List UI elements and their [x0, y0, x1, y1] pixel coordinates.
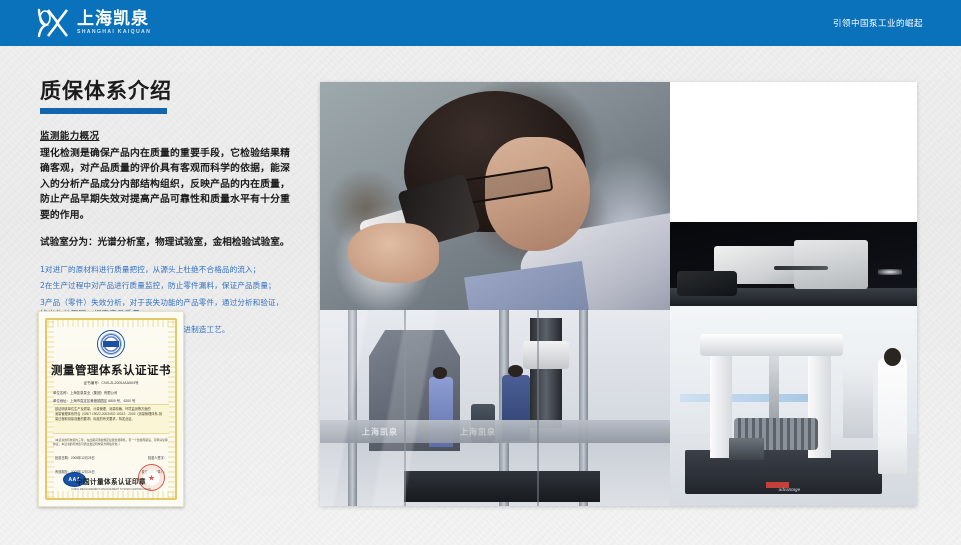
certificate-company: 单位名称：上海凯泉泵业（集团）有限公司 — [53, 390, 169, 395]
left-column: 质保体系介绍 监测能力概况 理化检测是确保产品内在质量的重要手段，它检验结果精确… — [0, 46, 320, 545]
intro-paragraph: 理化检测是确保产品内在质量的重要手段，它检验结果精确客观，对产品质量的评价具有客… — [40, 146, 290, 223]
header-bar: 上海凯泉 SHANGHAI KAIQUAN 引领中国泵工业的崛起 — [0, 0, 961, 46]
certificate-signature-row: 批准日期：2005年12月25日 批准人签字： — [55, 455, 167, 460]
photo-microscope-equipment — [670, 222, 917, 306]
logo-text-cn: 上海凯泉 — [77, 11, 151, 28]
certificate-note: （本证书的有效期为三年，在此期间须按规定接受监督审核，有一个监督周期后，可申请复… — [53, 438, 169, 446]
page-title-group: 质保体系介绍 — [40, 80, 280, 114]
certificate-footer-cn: 中国计量体系认证印章 — [39, 476, 183, 486]
company-logo[interactable]: 上海凯泉 SHANGHAI KAIQUAN — [36, 7, 151, 39]
logo-text-en: SHANGHAI KAIQUAN — [77, 30, 151, 35]
certificate-emblem-icon — [97, 330, 125, 358]
list-item: 2在生产过程中对产品进行质量监控，防止零件漏料，保证产品质量； — [40, 280, 290, 291]
section-subheading: 监测能力概况 — [40, 128, 290, 142]
photo-microscope-operator — [320, 82, 670, 310]
certificate-statement-line: 量过程和测量设备的要求）标准的有关要求，特发此证。 — [55, 417, 167, 422]
title-underline — [40, 108, 167, 114]
photo-caption: 金相显微镜检测 — [324, 300, 359, 307]
photo-cell-cmm-overlay: advantage 三坐标测量机 — [670, 306, 917, 506]
certificate-number: 证书编号：CNS-ZL2005JAA504号 — [39, 381, 183, 386]
page-title: 质保体系介绍 — [40, 80, 280, 103]
photo-cell-microscope-equipment-overlay — [670, 222, 917, 306]
photo-cell-microscope-operator: 金相显微镜检测 — [320, 82, 670, 310]
labs-line: 试验室分为：光谱分析室，物理试验室，金相检验试验室。 — [40, 236, 290, 250]
photo-cell-microscope-equipment: 上海凯泉 上海凯泉 材料试验机 — [320, 310, 670, 506]
certificate-image: 测量管理体系认证证书 证书编号：CNS-ZL2005JAA504号 单位名称：上… — [38, 311, 184, 507]
certificate-approver: 批准人签字： — [148, 455, 167, 460]
header-slogan: 引领中国泵工业的崛起 — [833, 0, 923, 46]
photo-cell-lab-room-overlay — [670, 82, 917, 222]
certificate-footer: 中国计量体系认证印章 CHINA MEASUREMENT MANAGEMENT … — [39, 476, 183, 492]
slide-root: 上海凯泉 SHANGHAI KAIQUAN 引领中国泵工业的崛起 质保体系介绍 … — [0, 0, 961, 545]
photo-material-testing-machine: 上海凯泉 上海凯泉 — [320, 310, 670, 506]
cmm-brand-mark: advantage — [779, 487, 800, 492]
photo-caption: 三坐标测量机 — [674, 496, 704, 503]
text-block: 监测能力概况 理化检测是确保产品内在质量的重要手段，它检验结果精确客观，对产品质… — [40, 128, 290, 341]
certificate-footer-en: CHINA MEASUREMENT MANAGEMENT SYSTEM CERT… — [39, 488, 183, 492]
certificate-statement: 兹证明该单位生产及质量、计量管理、测量精确、环境监测等方面的 测量管理体系符合《… — [53, 404, 169, 434]
list-item: 1对进厂的原材料进行质量把控，从源头上杜绝不合格品的流入； — [40, 264, 290, 275]
photo-caption: 材料试验机 — [324, 496, 349, 503]
photo-cmm-measuring: advantage — [670, 306, 917, 506]
certificate-title: 测量管理体系认证证书 — [39, 362, 183, 378]
kaiquan-logo-icon — [36, 7, 70, 39]
certificate-address: 单位地址：上海市嘉定区黄渡镇园区 6800 号、6200 号 — [53, 398, 169, 403]
certificate-issue-date: 批准日期：2005年12月25日 — [55, 455, 95, 460]
